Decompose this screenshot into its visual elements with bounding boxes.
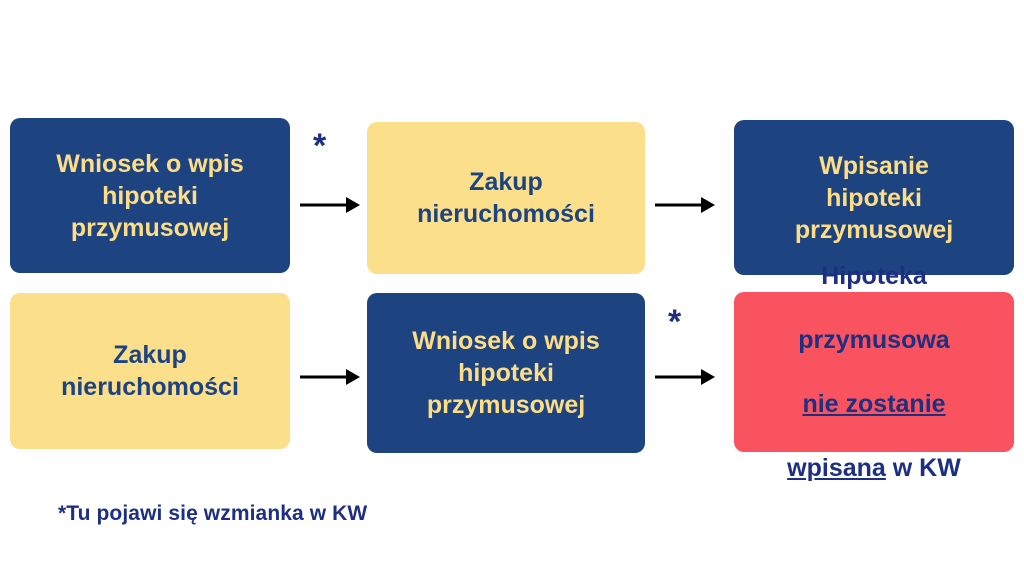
flow-diagram: Wniosek o wpis hipoteki przymusowej * Za… [0, 0, 1024, 576]
footnote-text: *Tu pojawi się wzmianka w KW [58, 502, 367, 526]
arrow-row1-step1-to-step2 [300, 192, 360, 218]
flow-box-row2-step3-line4-tail: w KW [886, 454, 961, 482]
arrow-row2-step1-to-step2 [300, 364, 360, 390]
arrow-row2-step2-to-step3 [655, 364, 715, 390]
flow-box-row2-step1: Zakup nieruchomości [10, 293, 290, 449]
asterisk-marker-row2: * [668, 305, 681, 339]
flow-box-row1-step2: Zakup nieruchomości [367, 122, 645, 274]
asterisk-marker-row1: * [313, 129, 326, 163]
flow-box-row2-step3-line4-underlined: wpisana [787, 454, 886, 482]
flow-box-row2-step3: Hipoteka przymusowa nie zostanie wpisana… [734, 292, 1014, 452]
flow-box-row2-step2: Wniosek o wpis hipoteki przymusowej [367, 293, 645, 453]
flow-box-row2-step3-line3: nie zostanie [787, 388, 961, 420]
flow-box-row2-step3-line1: Hipoteka [787, 260, 961, 292]
flow-box-row1-step1: Wniosek o wpis hipoteki przymusowej [10, 118, 290, 273]
arrow-row1-step2-to-step3 [655, 192, 715, 218]
flow-box-row2-step3-line2: przymusowa [787, 324, 961, 356]
